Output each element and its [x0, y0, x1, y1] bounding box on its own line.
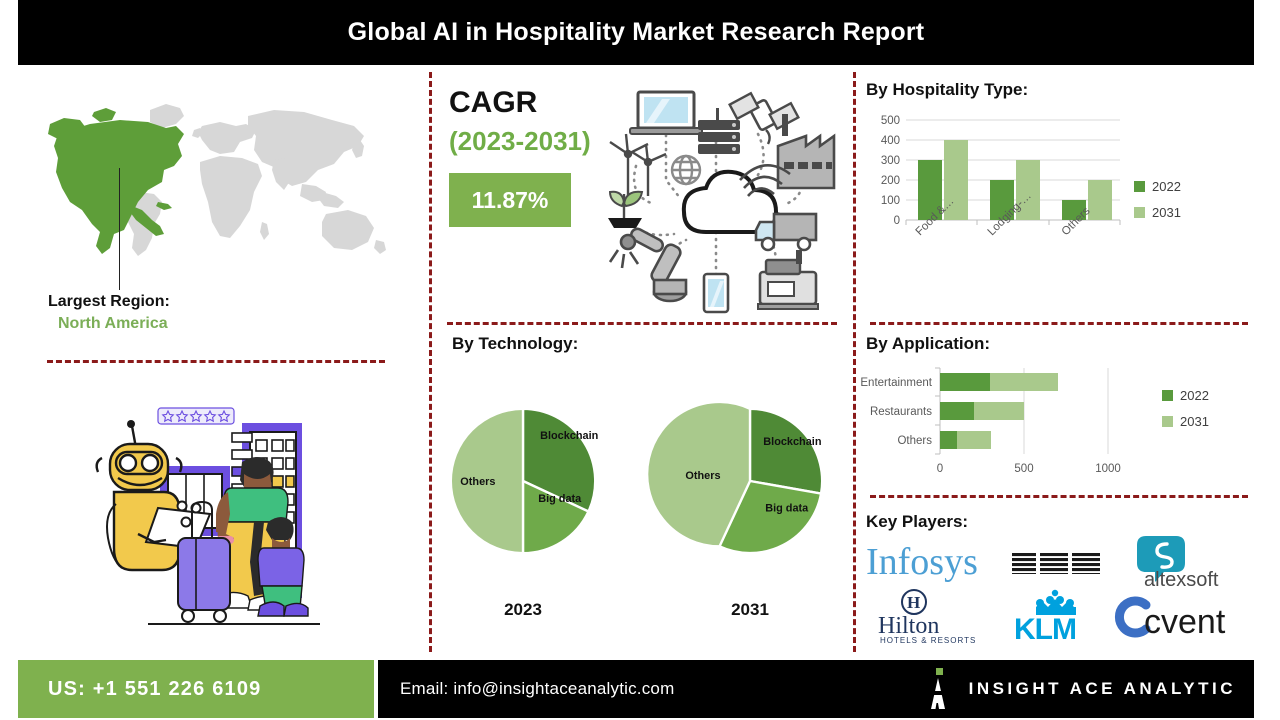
logo-altexsoft: altexsoft [1110, 534, 1254, 590]
robot-arm-icon [610, 227, 686, 301]
logo-klm-text: KLM [1014, 613, 1076, 645]
bar-2031-restaurants [974, 402, 1024, 420]
legend-label-2031: 2031 [1180, 414, 1209, 429]
key-players-title: Key Players: [866, 512, 968, 532]
logo-hilton: H Hilton HOTELS & RESORTS [862, 589, 1002, 645]
bar-2022-others [940, 431, 957, 449]
factory-icon [778, 114, 834, 188]
footer-brand: INSIGHT ACE ANALYTIC [921, 667, 1254, 711]
footer-phone: US: +1 551 226 6109 [18, 678, 262, 701]
hospitality-bar-chart: 500 400 300 200 100 0 Food &… Lodging-… [862, 112, 1252, 297]
logo-hilton-tagline: HOTELS & RESORTS [880, 636, 976, 645]
legend: 2022 2031 [1162, 388, 1209, 429]
largest-region-block: Largest Region: North America [48, 291, 170, 334]
svg-text:400: 400 [881, 135, 900, 147]
bar-2031-entertainment [990, 373, 1058, 391]
divider-horizontal-center [447, 322, 837, 325]
pie-chart-2031: Blockchain Big data Others [674, 405, 826, 557]
legend: 2022 2031 [1134, 179, 1181, 220]
footer-email: Email: info@insightaceanalytic.com [378, 679, 674, 699]
cagr-value-badge: 11.87% [449, 173, 571, 227]
cagr-title: CAGR [449, 86, 537, 120]
pie-label-others: Others [685, 470, 720, 482]
iot-cloud-illustration [592, 84, 840, 316]
svg-text:100: 100 [881, 195, 900, 207]
legend-label-2022: 2022 [1152, 179, 1181, 194]
windmill-icon [610, 134, 666, 196]
divider-vertical-right [853, 72, 856, 652]
svg-text:200: 200 [881, 175, 900, 187]
pie-label-bigdata: Big data [765, 502, 809, 514]
logo-row-1: Infosys [862, 534, 1254, 589]
smartphone-icon [704, 274, 728, 312]
hotel-robot-illustration [92, 388, 332, 640]
page-title: Global AI in Hospitality Market Research… [348, 18, 925, 47]
logo-cvent: cvent [1110, 589, 1254, 645]
cagr-years: (2023-2031) [449, 126, 591, 157]
pie-label-bigdata: Big data [538, 493, 582, 505]
application-section-title: By Application: [866, 334, 990, 354]
bar-2022-restaurants [940, 402, 974, 420]
cagr-value: 11.87% [472, 187, 549, 214]
footer-contact-block: Email: info@insightaceanalytic.com INSIG… [378, 660, 1254, 718]
largest-region-label: Largest Region: [48, 291, 170, 313]
legend-swatch-2031 [1134, 207, 1145, 218]
key-players-logos: Infosys [862, 534, 1254, 644]
klm-crown-icon [1036, 589, 1076, 614]
svg-text:300: 300 [881, 155, 900, 167]
cat-label-others: Others [897, 435, 932, 447]
logo-altexsoft-text: altexsoft [1144, 569, 1219, 590]
insightace-logo-icon [921, 667, 955, 711]
technology-section-title: By Technology: [452, 334, 578, 354]
rating-stars [158, 408, 234, 424]
pie-chart-2023: Blockchain Big data Others [447, 405, 599, 557]
bar-2031-others [957, 431, 991, 449]
y-tick-labels: 500 400 300 200 100 0 [881, 115, 900, 227]
pie-slice-blockchain [750, 409, 822, 494]
xtick-0: 0 [937, 463, 943, 475]
footer-brand-name: INSIGHT ACE ANALYTIC [955, 679, 1236, 699]
legend-label-2022: 2022 [1180, 388, 1209, 403]
logo-cvent-text: cvent [1144, 603, 1226, 641]
largest-region-value: North America [48, 313, 170, 335]
logo-klm: KLM [1002, 589, 1110, 645]
footer-phone-block: US: +1 551 226 6109 [18, 660, 374, 718]
pie-label-others: Others [460, 476, 495, 488]
pie-label-blockchain: Blockchain [540, 430, 598, 442]
laptop-icon [630, 92, 702, 134]
logo-infosys: Infosys [862, 538, 1002, 586]
legend-swatch-2031 [1162, 416, 1173, 427]
xtick-1000: 1000 [1095, 463, 1121, 475]
bars [940, 373, 1058, 449]
hospitality-section-title: By Hospitality Type: [866, 80, 1028, 100]
infographic-page: Global AI in Hospitality Market Research… [0, 0, 1280, 720]
pie-year-2031: 2031 [674, 600, 826, 620]
y-category-labels: Entertainment Restaurants Others [860, 377, 932, 447]
map-highlight-north-america [48, 108, 184, 254]
divider-vertical-left [429, 72, 432, 652]
page-title-bar: Global AI in Hospitality Market Research… [18, 0, 1254, 65]
legend-swatch-2022 [1134, 181, 1145, 192]
x-tick-labels: 0 500 1000 [937, 463, 1121, 475]
svg-text:500: 500 [881, 115, 900, 127]
svg-text:H: H [907, 593, 920, 612]
map-base-continents [128, 104, 386, 256]
bar-2022-entertainment [940, 373, 990, 391]
logo-infosys-text: Infosys [866, 541, 978, 583]
server-icon [698, 108, 740, 154]
logo-row-2: H Hilton HOTELS & RESORTS KLM [862, 589, 1254, 644]
xtick-500: 500 [1014, 463, 1033, 475]
pie-label-blockchain: Blockchain [763, 436, 821, 448]
cat-label-entertainment: Entertainment [860, 377, 932, 389]
plant-icon [608, 192, 642, 228]
legend-label-2031: 2031 [1152, 205, 1181, 220]
y-ticks [935, 368, 940, 454]
printer-icon [758, 250, 818, 309]
globe-icon [672, 156, 700, 184]
cat-label-restaurants: Restaurants [870, 406, 932, 418]
legend-swatch-2022 [1162, 390, 1173, 401]
logo-ibm: IBM [1002, 538, 1110, 586]
application-bar-chart: Entertainment Restaurants Others 0 500 1… [862, 362, 1252, 497]
svg-text:0: 0 [894, 215, 900, 227]
world-map [34, 88, 404, 288]
map-leader-line [119, 168, 120, 290]
divider-horizontal-left [47, 360, 385, 363]
pie-year-2023: 2023 [447, 600, 599, 620]
divider-horizontal-right-top [870, 322, 1248, 325]
